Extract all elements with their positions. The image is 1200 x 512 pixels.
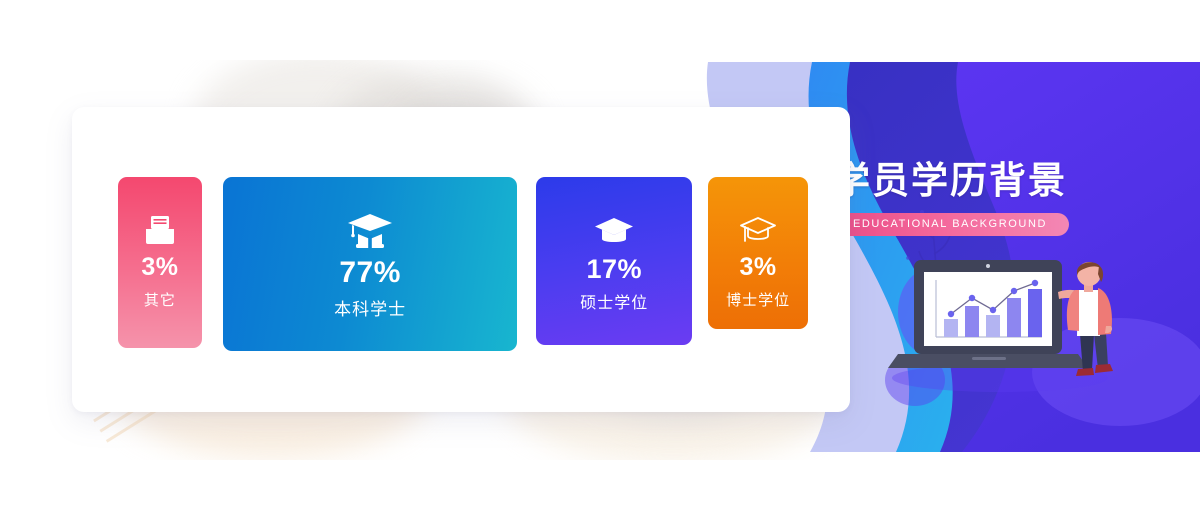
graduation-cap-solid-icon [594, 201, 634, 247]
laptop-presentation-illustration [880, 238, 1130, 398]
stat-percent: 17% [587, 256, 643, 283]
laptop-bar-4 [1007, 298, 1021, 337]
laptop-bar-3 [986, 315, 1000, 337]
stat-card-other[interactable]: 3% 其它 [118, 177, 202, 348]
stats-panel: 3% 其它 77% 本科学士 [72, 107, 850, 412]
stat-percent: 3% [141, 255, 178, 280]
laptop-bar-5 [1028, 289, 1042, 337]
laptop-deck [888, 354, 1088, 368]
stat-card-master[interactable]: 17% 硕士学位 [536, 177, 692, 345]
stat-label: 博士学位 [726, 293, 790, 308]
laptop-bar-1 [944, 319, 958, 337]
stat-percent: 3% [740, 255, 777, 280]
document-tray-icon [143, 200, 177, 246]
laptop-camera [986, 264, 990, 268]
laptop-bar-2 [965, 306, 979, 337]
stat-label: 其它 [144, 293, 176, 308]
stat-percent: 77% [339, 258, 401, 288]
infographic-canvas: 学员学历背景 EDUCATIONAL BACKGROUND [0, 0, 1200, 512]
stat-cards-row: 3% 其它 77% 本科学士 [118, 177, 808, 357]
graduation-cap-outline-icon [739, 200, 777, 246]
stat-card-bachelor[interactable]: 77% 本科学士 [223, 177, 518, 351]
graduation-cap-book-icon [347, 203, 393, 249]
stat-label: 本科学士 [334, 301, 406, 318]
stat-card-doctor[interactable]: 3% 博士学位 [708, 177, 808, 329]
stat-label: 硕士学位 [580, 296, 648, 312]
